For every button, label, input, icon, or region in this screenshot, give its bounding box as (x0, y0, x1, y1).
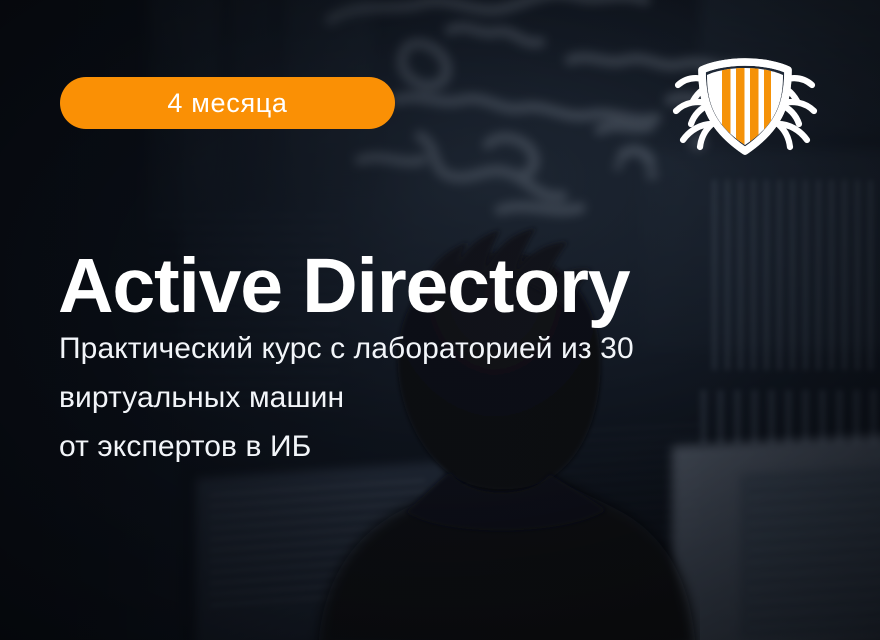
banner-content: 4 месяца Active Directory Практический к… (0, 0, 880, 640)
subtitle-line: от экспертов в ИБ (59, 422, 789, 471)
beetle-shield-logo-icon (672, 54, 818, 158)
page-title: Active Directory (58, 248, 629, 325)
duration-badge[interactable]: 4 месяца (60, 77, 395, 129)
duration-badge-label: 4 месяца (167, 90, 287, 117)
subtitle-line: Практический курс с лабораторией из 30 (59, 324, 789, 373)
subtitle-line: виртуальных машин (59, 373, 789, 422)
subtitle: Практический курс с лабораторией из 30 в… (59, 324, 789, 471)
course-promo-banner: 4 месяца Active Directory Практический к… (0, 0, 880, 640)
